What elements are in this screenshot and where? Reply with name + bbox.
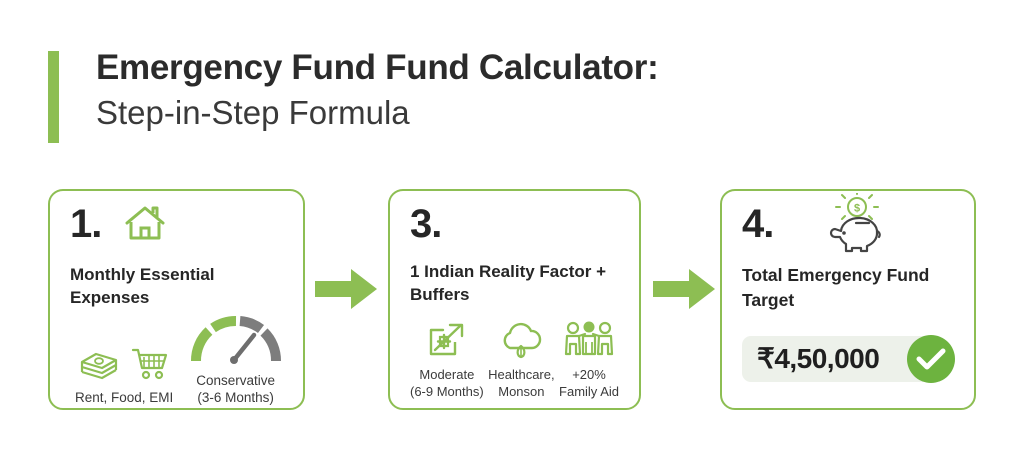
cloud-monsoon-icon [499,320,543,360]
step-card-1[interactable]: 1. Monthly Essential Expenses [48,189,305,410]
step-title-1: Monthly Essential Expenses [70,264,287,309]
check-icon [907,335,955,383]
healthcare-caption-line2: Monson [498,384,544,399]
healthcare-item: Healthcare, Monson [488,320,554,400]
moderate-glyphs [426,320,468,360]
expenses-item: Rent, Food, EMI [70,342,178,406]
gauge-glyphs [188,325,284,365]
total-amount: ₹4,50,000 [757,342,879,375]
moderate-item: Moderate (6-9 Months) [410,320,484,400]
healthcare-caption: Healthcare, Monson [488,367,554,400]
arrow-right-1 [315,267,379,316]
step-title-2: 1 Indian Reality Factor + Buffers [410,261,623,306]
card-3-header: 4. $ [742,205,958,253]
accent-bar [48,51,59,143]
expenses-glyphs [79,342,169,382]
card-2-icon-row: Moderate (6-9 Months) Healthcare, [410,320,623,400]
gauge-item: Conservative (3-6 Months) [184,325,287,406]
amount-row: ₹4,50,000 [742,336,958,382]
family-icon [563,320,615,360]
page-header: Emergency Fund Fund Calculator: Step-in-… [48,48,658,143]
family-aid-caption-line1: +20% [572,367,606,382]
family-aid-glyphs [563,320,615,360]
family-aid-item: +20% Family Aid [559,320,619,400]
moderate-caption: Moderate (6-9 Months) [410,367,484,400]
healthcare-glyphs [499,320,543,360]
moderate-caption-line1: Moderate [419,367,474,382]
gauge-caption: Conservative (3-6 Months) [196,372,275,406]
page-subtitle: Step-in-Step Formula [96,94,658,133]
steps-flow: 1. Monthly Essential Expenses [0,189,1024,411]
card-1-header: 1. [70,205,287,253]
moderate-caption-line2: (6-9 Months) [410,384,484,399]
infographic-page: Emergency Fund Fund Calculator: Step-in-… [0,0,1024,467]
family-aid-caption: +20% Family Aid [559,367,619,400]
house-icon [123,203,167,248]
piggy-bank-icon: $ [821,193,891,260]
card-2-header: 3. [410,205,623,257]
health-growth-icon [426,320,468,360]
shopping-cart-icon [131,346,169,382]
family-aid-caption-line2: Family Aid [559,384,619,399]
step-card-3[interactable]: 4. $ Total Emergency Fund Target [720,189,976,410]
gauge-caption-line1: Conservative [196,373,275,388]
svg-text:$: $ [854,203,860,215]
step-title-3: Total Emergency Fund Target [742,263,958,314]
gauge-icon [188,315,284,365]
step-number-1: 1. [70,205,101,243]
step-number-3: 4. [742,205,773,243]
arrow-right-2 [653,267,717,316]
gauge-caption-line2: (3-6 Months) [197,390,274,405]
step-number-2: 3. [410,205,441,243]
expenses-caption: Rent, Food, EMI [75,389,173,406]
card-1-icon-row: Rent, Food, EMI Cons [70,325,287,406]
title-block: Emergency Fund Fund Calculator: Step-in-… [96,48,658,133]
healthcare-caption-line1: Healthcare, [488,367,554,382]
page-title: Emergency Fund Fund Calculator: [96,48,658,87]
step-card-2[interactable]: 3. 1 Indian Reality Factor + Buffers [388,189,641,410]
cash-stack-icon [79,348,119,382]
